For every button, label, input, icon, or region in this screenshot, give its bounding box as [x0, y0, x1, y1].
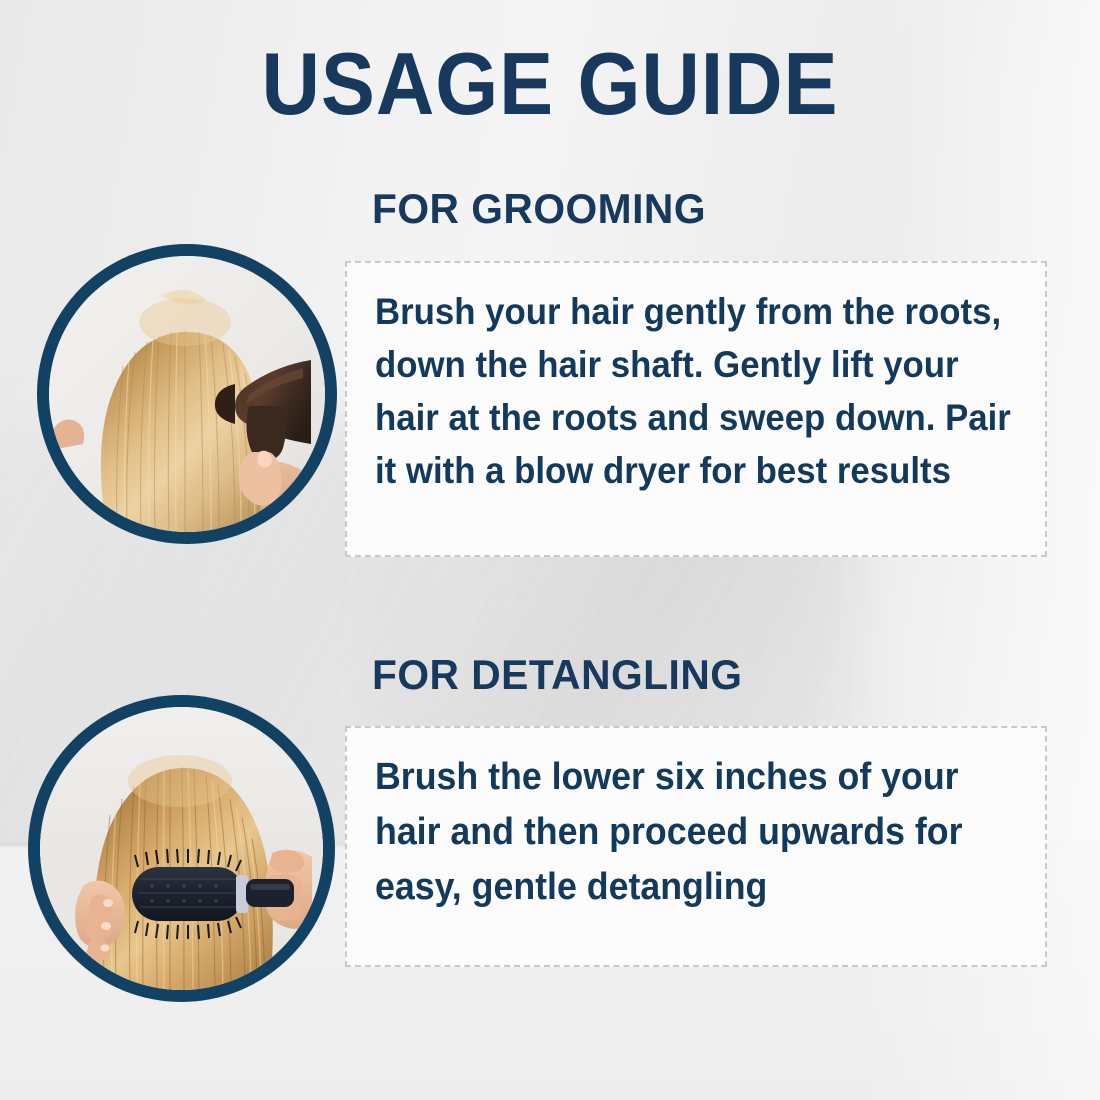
section-heading-detangling: FOR DETANGLING	[372, 652, 742, 698]
instruction-text-detangling: Brush the lower six inches of your hair …	[375, 750, 1017, 915]
page-title: USAGE GUIDE	[44, 36, 1056, 132]
instruction-text-grooming: Brush your hair gently from the roots, d…	[375, 285, 1017, 497]
usage-guide-page: USAGE GUIDE FOR GROOMING	[0, 0, 1100, 1100]
section-heading-grooming: FOR GROOMING	[372, 186, 706, 232]
photo-grooming-blow-dryer	[49, 256, 325, 532]
instruction-card-grooming: Brush your hair gently from the roots, d…	[345, 261, 1047, 557]
photo-detangling-round-brush	[40, 707, 323, 990]
instruction-card-detangling: Brush the lower six inches of your hair …	[345, 726, 1047, 967]
